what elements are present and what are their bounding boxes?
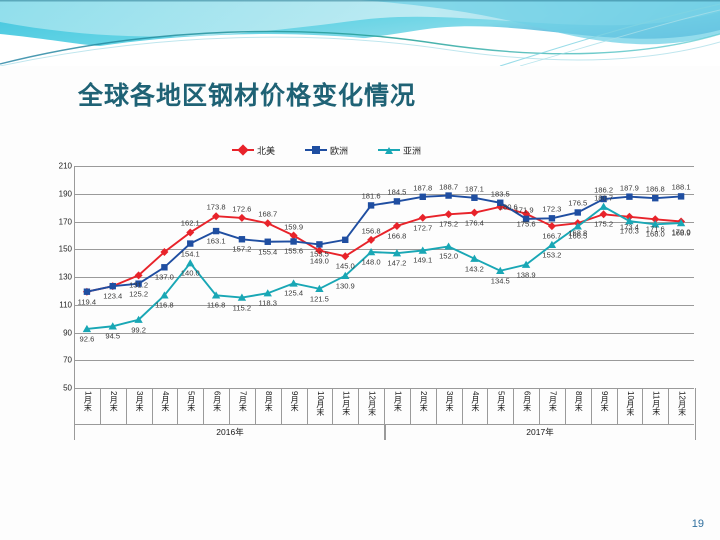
data-point-欧洲-13 [420,194,426,200]
data-point-欧洲-12 [394,198,400,204]
x-axis-group-labels: 2016年2017年 [74,424,694,440]
value-label-亚洲-17: 138.9 [517,270,536,279]
x-group-label-1: 2017年 [384,424,696,440]
data-point-欧洲-5 [213,228,219,234]
x-tick-label-11: 12月末 [367,391,378,416]
value-label-北美-20: 175.2 [594,220,613,229]
value-label-亚洲-2: 99.2 [131,325,146,334]
value-label-北美-5: 173.8 [207,203,226,212]
page-number: 19 [692,518,704,530]
x-tick-cell-9: 10月末 [307,388,334,424]
data-point-欧洲-23 [678,193,684,199]
x-group-label-0: 2016年 [74,424,386,440]
y-tick-90: 90 [63,328,72,337]
x-tick-cell-14: 3月末 [436,388,463,424]
value-label-欧洲-7: 155.4 [258,247,277,256]
value-label-欧洲-22: 186.8 [646,185,665,194]
data-point-欧洲-1 [110,283,116,289]
value-label-北美-7: 168.7 [258,210,277,219]
x-tick-cell-4: 5月末 [177,388,204,424]
x-tick-cell-21: 10月末 [617,388,644,424]
value-label-亚洲-10: 130.9 [336,281,355,290]
legend-line-north-america [232,149,254,151]
value-label-亚洲-8: 125.4 [284,289,303,298]
legend-label-north-america: 北美 [257,144,275,157]
data-point-欧洲-10 [342,237,348,243]
data-point-欧洲-7 [265,239,271,245]
value-label-亚洲-0: 92.6 [80,334,95,343]
value-label-亚洲-22: 168.0 [646,230,665,239]
x-tick-cell-23: 12月末 [668,388,696,424]
value-label-北美-15: 176.4 [465,218,484,227]
decorative-wave-banner [0,0,720,66]
y-tick-130: 130 [59,273,72,282]
value-label-亚洲-1: 94.5 [105,332,120,341]
data-point-北美-13 [419,214,427,222]
value-label-欧洲-6: 157.2 [232,245,251,254]
value-label-北美-6: 172.6 [232,204,251,213]
value-label-欧洲-17: 171.9 [515,205,534,214]
value-label-亚洲-7: 118.3 [259,299,277,308]
data-point-欧洲-15 [471,195,477,201]
value-label-欧洲-3: 137.0 [155,273,174,282]
value-label-北美-13: 172.7 [413,223,432,232]
value-label-亚洲-16: 134.5 [491,276,510,285]
value-label-亚洲-13: 149.1 [413,256,432,265]
value-label-欧洲-19: 176.5 [568,199,587,208]
value-label-亚洲-4: 140.0 [181,269,200,278]
data-point-亚洲-20 [599,203,607,210]
x-tick-label-3: 4月末 [160,391,171,411]
x-tick-cell-17: 6月末 [513,388,540,424]
x-tick-cell-3: 4月末 [152,388,179,424]
data-point-北美-18 [548,222,556,230]
x-tick-cell-7: 8月末 [255,388,282,424]
x-tick-label-2: 3月末 [134,391,145,411]
y-tick-210: 210 [59,162,72,171]
value-label-欧洲-15: 187.1 [465,184,484,193]
data-point-欧洲-4 [187,240,193,246]
data-point-欧洲-8 [290,238,296,244]
x-tick-label-22: 11月末 [651,391,662,415]
value-label-欧洲-18: 172.3 [542,205,561,214]
value-label-亚洲-9: 121.5 [310,294,329,303]
y-tick-170: 170 [59,217,72,226]
x-tick-label-4: 5月末 [186,391,197,411]
value-label-亚洲-21: 170.3 [620,227,639,236]
data-point-北美-14 [445,210,453,218]
x-tick-label-13: 2月末 [418,391,429,411]
value-label-亚洲-11: 148.0 [362,258,381,267]
value-label-北美-11: 156.8 [362,226,381,235]
value-label-欧洲-11: 181.6 [362,192,381,201]
x-tick-label-16: 5月末 [496,391,507,411]
data-point-欧洲-6 [239,236,245,242]
data-point-欧洲-9 [316,241,322,247]
data-point-欧洲-18 [549,215,555,221]
data-point-欧洲-0 [84,289,90,295]
value-label-欧洲-21: 187.9 [620,183,639,192]
value-label-欧洲-2: 125.2 [129,289,148,298]
data-point-亚洲-8 [289,279,297,286]
value-label-欧洲-14: 188.7 [439,182,458,191]
x-tick-label-17: 6月末 [522,391,533,411]
legend-item-asia[interactable]: 亚洲 [378,144,421,157]
data-point-北美-12 [393,222,401,230]
x-tick-label-20: 9月末 [599,391,610,411]
legend-line-asia [378,149,400,151]
data-point-欧洲-22 [652,195,658,201]
chart-plot-area: 119.4123.4125.2131.2137.0162.1154.1173.8… [74,166,694,388]
value-label-亚洲-12: 147.2 [387,259,406,268]
x-tick-cell-5: 6月末 [203,388,230,424]
value-label-亚洲-6: 115.2 [233,303,251,312]
x-tick-label-21: 10月末 [625,391,636,416]
diamond-marker-icon [237,144,248,155]
x-tick-cell-16: 5月末 [487,388,514,424]
legend-item-europe[interactable]: 欧洲 [305,144,348,157]
x-tick-label-9: 10月末 [315,391,326,416]
x-tick-label-12: 1月末 [392,391,403,411]
x-tick-cell-19: 8月末 [565,388,592,424]
value-label-北美-2: 131.2 [129,281,148,290]
value-label-欧洲-12: 184.5 [387,188,406,197]
value-label-北美-4: 162.1 [181,219,200,228]
x-tick-label-19: 8月末 [573,391,584,411]
value-label-北美-17: 175.6 [517,219,536,228]
x-tick-label-23: 12月末 [677,391,688,416]
legend-label-europe: 欧洲 [330,144,348,157]
value-label-欧洲-8: 155.6 [284,247,303,256]
value-label-北美-8: 159.9 [284,222,303,231]
square-marker-icon [312,146,320,154]
value-label-亚洲-23: 168.9 [672,229,691,238]
y-tick-150: 150 [59,245,72,254]
x-tick-label-14: 3月末 [444,391,455,411]
x-tick-cell-10: 11月末 [332,388,359,424]
x-tick-cell-6: 7月末 [229,388,256,424]
data-point-北美-15 [470,209,478,217]
value-label-北美-9: 149.0 [310,256,329,265]
value-label-亚洲-3: 116.8 [155,301,173,310]
x-tick-label-6: 7月末 [237,391,248,411]
legend-label-asia: 亚洲 [403,144,421,157]
x-tick-cell-20: 9月末 [591,388,618,424]
value-label-亚洲-5: 116.8 [207,301,225,310]
x-tick-cell-0: 1月末 [74,388,101,424]
x-tick-label-15: 4月末 [470,391,481,411]
value-label-北美-12: 166.8 [387,231,406,240]
x-axis: 1月末2月末3月末4月末5月末6月末7月末8月末9月末10月末11月末12月末1… [74,388,694,440]
value-label-欧洲-5: 163.1 [207,237,226,246]
x-tick-cell-22: 11月末 [642,388,669,424]
x-tick-label-7: 8月末 [263,391,274,411]
data-point-欧洲-21 [626,193,632,199]
data-point-欧洲-11 [368,202,374,208]
x-tick-cell-2: 3月末 [126,388,153,424]
data-point-北美-7 [264,219,272,227]
page-title: 全球各地区钢材价格变化情况 [78,76,416,112]
data-point-欧洲-19 [575,209,581,215]
value-label-亚洲-18: 153.2 [542,250,561,259]
x-tick-label-5: 6月末 [212,391,223,411]
triangle-marker-icon [385,147,393,154]
value-label-北美-10: 145.0 [336,262,355,271]
x-tick-label-10: 11月末 [341,391,352,415]
value-label-亚洲-20: 180.7 [594,193,613,202]
y-tick-190: 190 [59,189,72,198]
value-label-欧洲-4: 154.1 [181,249,200,258]
data-point-北美-20 [600,210,608,218]
y-tick-70: 70 [63,356,72,365]
chart-legend: 北美 欧洲 亚洲 [232,142,492,158]
x-tick-cell-1: 2月末 [100,388,127,424]
x-tick-label-18: 7月末 [547,391,558,411]
value-label-亚洲-14: 152.0 [439,252,458,261]
value-label-欧洲-16: 183.5 [491,189,510,198]
x-tick-cell-15: 4月末 [462,388,489,424]
legend-item-north-america[interactable]: 北美 [232,144,275,157]
data-point-亚洲-4 [186,259,194,266]
data-point-北美-6 [238,214,246,222]
x-tick-cell-11: 12月末 [358,388,385,424]
series-line-北美 [87,207,681,292]
y-tick-110: 110 [59,300,72,309]
legend-line-europe [305,149,327,151]
value-label-北美-14: 175.2 [439,220,458,229]
value-label-亚洲-15: 143.2 [465,264,484,273]
y-tick-50: 50 [63,384,72,393]
data-point-欧洲-14 [445,192,451,198]
x-tick-cell-12: 1月末 [384,388,411,424]
value-label-欧洲-13: 187.8 [413,183,432,192]
x-tick-label-8: 9月末 [289,391,300,411]
x-tick-cell-13: 2月末 [410,388,437,424]
x-axis-tick-cells: 1月末2月末3月末4月末5月末6月末7月末8月末9月末10月末11月末12月末1… [74,388,694,425]
slide-canvas: 全球各地区钢材价格变化情况 北美 欧洲 亚洲 21019017015013011… [0,0,720,540]
value-label-欧洲-23: 188.1 [672,183,691,192]
value-label-北美-0: 119.4 [78,297,96,306]
x-tick-label-1: 2月末 [108,391,119,411]
y-axis-tick-labels: 210190170150130110907050 [54,160,72,394]
x-tick-label-0: 1月末 [82,391,93,411]
data-point-欧洲-3 [161,264,167,270]
x-tick-cell-18: 7月末 [539,388,566,424]
series-line-亚洲 [87,207,681,329]
x-tick-cell-8: 9月末 [281,388,308,424]
value-label-北美-18: 166.7 [542,232,561,241]
value-label-亚洲-19: 166.5 [568,232,587,241]
value-label-北美-1: 123.4 [103,292,122,301]
